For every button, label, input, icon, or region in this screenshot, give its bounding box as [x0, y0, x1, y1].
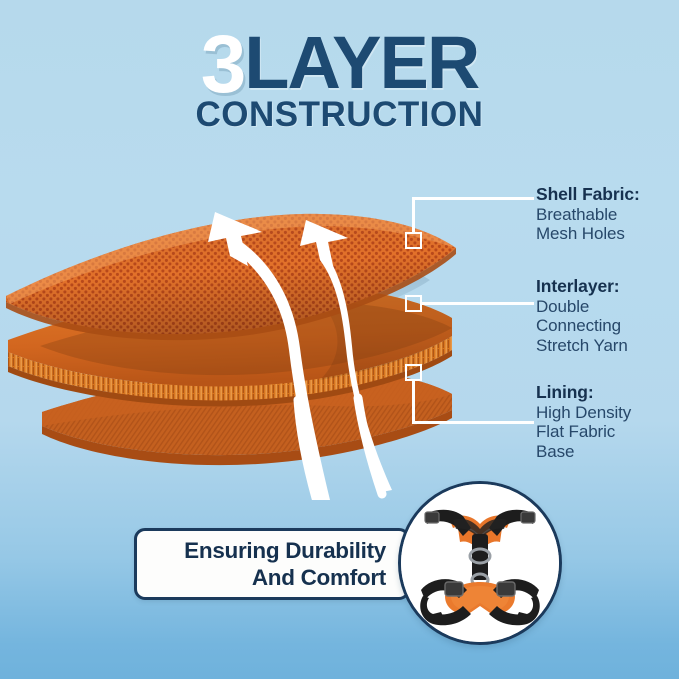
title-word: LAYER: [244, 21, 478, 104]
label-lining-heading: Lining:: [536, 383, 631, 403]
label-lining-line2: Flat Fabric: [536, 422, 631, 441]
label-interlayer-line3: Stretch Yarn: [536, 336, 628, 355]
label-shell-fabric-line2: Mesh Holes: [536, 224, 640, 243]
label-shell-fabric: Shell Fabric: Breathable Mesh Holes: [536, 185, 640, 244]
product-photo-circle: [398, 481, 562, 645]
tagline-line1: Ensuring Durability: [154, 537, 386, 564]
marker-square-shell: [405, 232, 422, 249]
label-lining-line1: High Density: [536, 403, 631, 422]
tagline-text: Ensuring Durability And Comfort: [154, 537, 390, 592]
label-interlayer: Interlayer: Double Connecting Stretch Ya…: [536, 277, 628, 355]
dog-harness-icon: [401, 484, 559, 642]
label-shell-fabric-line1: Breathable: [536, 205, 640, 224]
label-interlayer-line1: Double: [536, 297, 628, 316]
connector-horizontal-lining: [412, 421, 534, 424]
marker-square-lining: [405, 364, 422, 381]
tagline-line2: And Comfort: [154, 564, 386, 591]
connector-vertical-lining: [412, 380, 415, 423]
label-lining: Lining: High Density Flat Fabric Base: [536, 383, 631, 461]
connector-horizontal-interlayer: [422, 302, 534, 305]
label-interlayer-line2: Connecting: [536, 316, 628, 335]
connector-horizontal-shell: [412, 197, 534, 200]
title-number: 3: [201, 19, 245, 110]
label-shell-fabric-heading: Shell Fabric:: [536, 185, 640, 205]
title-subtitle: CONSTRUCTION: [0, 95, 679, 135]
title-main-row: 3LAYER: [0, 26, 679, 105]
tagline-banner: Ensuring Durability And Comfort: [134, 528, 410, 600]
fabric-layer-stack-illustration: [0, 150, 470, 500]
infographic-canvas: 3LAYER CONSTRUCTION: [0, 0, 679, 679]
label-lining-line3: Base: [536, 442, 631, 461]
marker-square-interlayer: [405, 295, 422, 312]
label-interlayer-heading: Interlayer:: [536, 277, 628, 297]
connector-vertical-shell: [412, 198, 415, 234]
page-title: 3LAYER CONSTRUCTION: [0, 26, 679, 135]
